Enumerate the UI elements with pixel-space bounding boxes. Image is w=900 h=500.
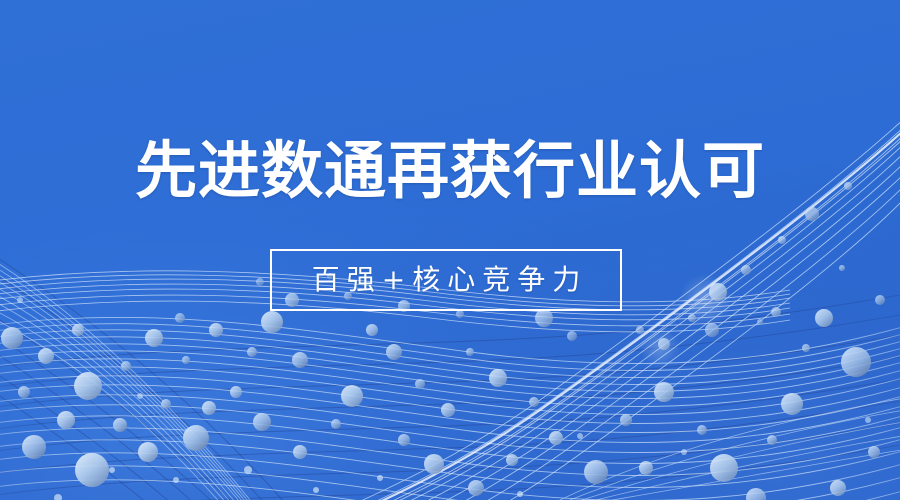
promo-banner: 先进数通再获行业认可 百强+核心竞争力: [0, 0, 900, 500]
background-artwork: [0, 0, 900, 500]
